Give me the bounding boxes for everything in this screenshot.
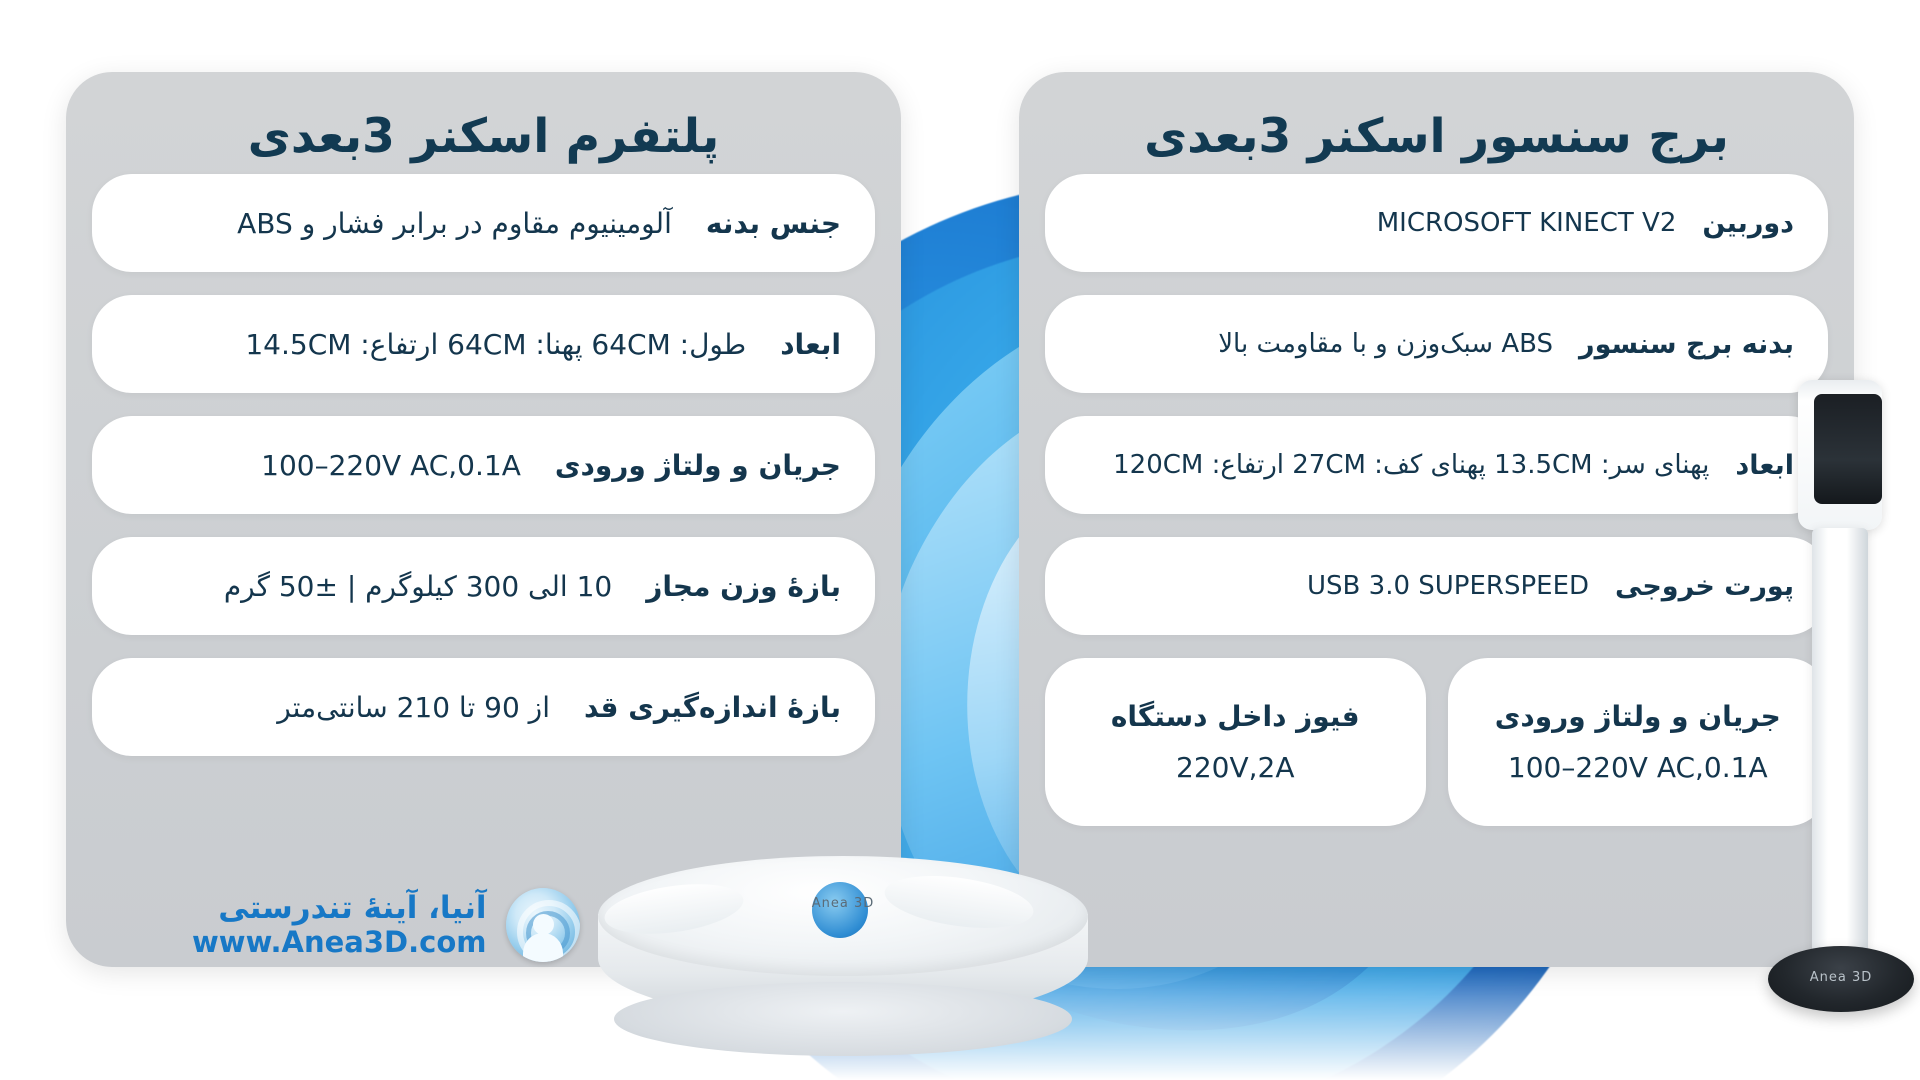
table-row: جنس بدنه آلومینیوم مقاوم در برابر فشار و…	[92, 174, 875, 272]
spec-value: 100–220V AC,0.1A	[126, 449, 555, 482]
spec-value: 10 الی 300 کیلوگرم | ±50 گرم	[126, 570, 646, 603]
spec-value: آلومینیوم مقاوم در برابر فشار و ABS	[126, 207, 706, 240]
tower-camera-lens	[1814, 394, 1882, 504]
person-in-circle-icon	[506, 888, 580, 962]
brand-url[interactable]: www.Anea3D.com	[192, 927, 486, 959]
spec-value: 220V,2A	[1176, 751, 1294, 784]
tower-pole	[1812, 528, 1868, 960]
tower-stand-label: Anea 3D	[1768, 970, 1914, 985]
table-row: پورت خروجی USB 3.0 SUPERSPEED	[1045, 537, 1828, 635]
platform-base	[614, 982, 1072, 1056]
spec-label: ابعاد	[780, 328, 841, 361]
spec-label: فیوز داخل دستگاه	[1111, 700, 1360, 733]
spec-label: بازۀ اندازه‌گیری قد	[584, 691, 841, 724]
spec-value: طول: 64CM پهنا: 64CM ارتفاع: 14.5CM	[126, 328, 780, 361]
spec-label: پورت خروجی	[1615, 571, 1794, 602]
spec-label: جنس بدنه	[706, 207, 841, 240]
platform-card-title: پلتفرم اسکنر 3بعدی	[66, 72, 901, 164]
spec-label: جریان و ولتاژ ورودی	[1495, 700, 1781, 733]
sensor-tower-spec-card: برج سنسور اسکنر 3بعدی دوربین MICROSOFT K…	[1019, 72, 1854, 967]
spec-value: USB 3.0 SUPERSPEED	[1079, 571, 1615, 601]
sensor-tower-spec-rows: دوربین MICROSOFT KINECT V2 بدنه برج سنسو…	[1019, 164, 1854, 826]
table-row: ابعاد پهنای سر: 13.5CM پهنای کف: 27CM ار…	[1045, 416, 1828, 514]
platform-logo-label: Anea 3D	[748, 896, 938, 911]
logo-person-head	[533, 914, 554, 935]
sensor-tower-card-title: برج سنسور اسکنر 3بعدی	[1019, 72, 1854, 164]
spec-label: بازۀ وزن مجاز	[646, 570, 841, 603]
spec-value: 100–220V AC,0.1A	[1508, 751, 1768, 784]
spec-box: فیوز داخل دستگاه 220V,2A	[1045, 658, 1426, 826]
spec-value: از 90 تا 210 سانتی‌متر	[126, 691, 584, 724]
table-row: بازۀ وزن مجاز 10 الی 300 کیلوگرم | ±50 گ…	[92, 537, 875, 635]
spec-value: ABS سبک‌وزن و با مقاومت بالا	[1079, 329, 1579, 359]
tower-head	[1798, 380, 1882, 530]
spec-box: جریان و ولتاژ ورودی 100–220V AC,0.1A	[1448, 658, 1829, 826]
platform-spec-card: پلتفرم اسکنر 3بعدی جنس بدنه آلومینیوم مق…	[66, 72, 901, 967]
platform-footprint-left	[601, 876, 746, 941]
spec-value: MICROSOFT KINECT V2	[1079, 208, 1702, 238]
brand-text: آنیا، آینۀ تندرستی www.Anea3D.com	[192, 891, 486, 959]
table-row: ابعاد طول: 64CM پهنا: 64CM ارتفاع: 14.5C…	[92, 295, 875, 393]
spec-label: جریان و ولتاژ ورودی	[555, 449, 841, 482]
platform-top: Anea 3D	[598, 856, 1088, 976]
platform-spec-rows: جنس بدنه آلومینیوم مقاوم در برابر فشار و…	[66, 164, 901, 756]
spec-box-pair: جریان و ولتاژ ورودی 100–220V AC,0.1A فیو…	[1045, 658, 1828, 826]
brand-slogan: آنیا، آینۀ تندرستی	[192, 891, 486, 925]
table-row: بازۀ اندازه‌گیری قد از 90 تا 210 سانتی‌م…	[92, 658, 875, 756]
spec-value: پهنای سر: 13.5CM پهنای کف: 27CM ارتفاع: …	[1079, 450, 1735, 480]
table-row: دوربین MICROSOFT KINECT V2	[1045, 174, 1828, 272]
table-row: بدنه برج سنسور ABS سبک‌وزن و با مقاومت ب…	[1045, 295, 1828, 393]
table-row: جریان و ولتاژ ورودی 100–220V AC,0.1A	[92, 416, 875, 514]
spec-label: بدنه برج سنسور	[1579, 329, 1794, 360]
spec-label: ابعاد	[1735, 450, 1794, 481]
brand-block: آنیا، آینۀ تندرستی www.Anea3D.com	[192, 888, 580, 962]
sensor-tower-photo: Anea 3D	[1790, 380, 1890, 1020]
spec-label: دوربین	[1702, 208, 1794, 239]
scanner-platform-photo: Anea 3D	[598, 856, 1088, 1056]
